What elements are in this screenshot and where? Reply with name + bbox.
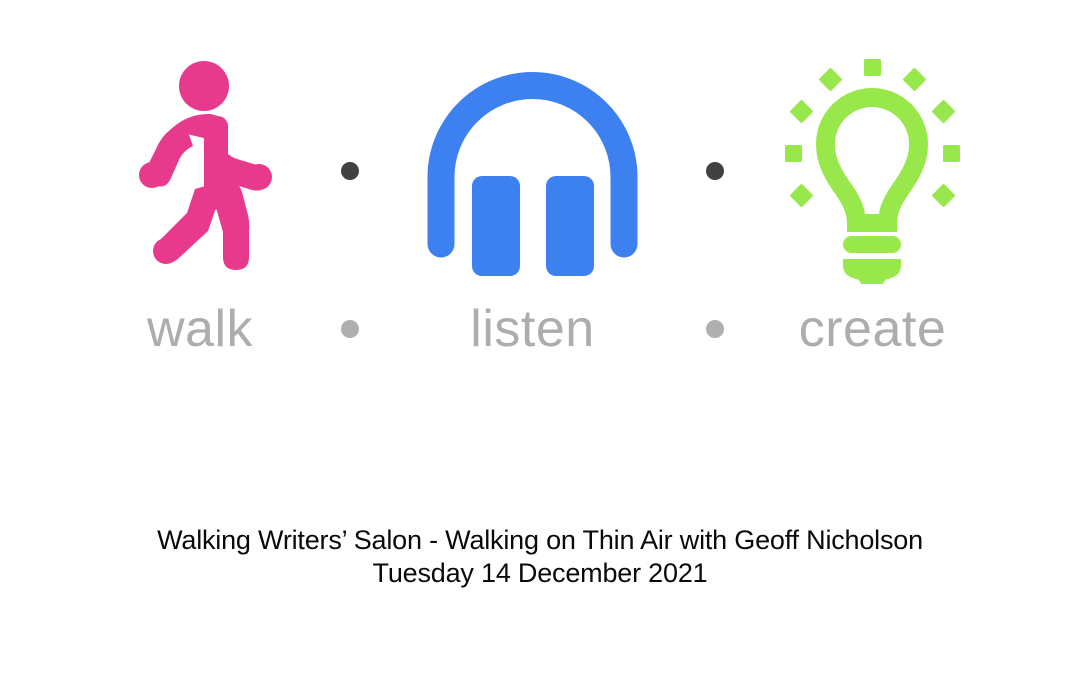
- headphones-icon: [420, 64, 645, 279]
- logo-word-listen: listen: [413, 303, 653, 355]
- logo-word-walk: walk: [113, 303, 288, 355]
- caption-line-title: Walking Writers’ Salon - Walking on Thin…: [0, 524, 1080, 557]
- page-root: walk listen create Walking Writers’ Salo…: [0, 0, 1080, 675]
- walking-person-icon: [125, 61, 275, 281]
- listen-icon-slot[interactable]: [413, 56, 653, 286]
- lightbulb-icon: [785, 59, 960, 284]
- separator-dot: [706, 320, 724, 338]
- create-icon-slot[interactable]: [778, 56, 968, 286]
- separator-dot-icons-2: [653, 56, 778, 286]
- logo-icon-row: [0, 56, 1080, 286]
- separator-dot: [341, 320, 359, 338]
- logo-word-row: walk listen create: [0, 294, 1080, 364]
- separator-dot-words-2: [653, 320, 778, 338]
- separator-dot-words-1: [288, 320, 413, 338]
- separator-dot: [706, 162, 724, 180]
- event-caption: Walking Writers’ Salon - Walking on Thin…: [0, 524, 1080, 590]
- separator-dot-icons-1: [288, 56, 413, 286]
- separator-dot: [341, 162, 359, 180]
- walk-icon-slot[interactable]: [113, 56, 288, 286]
- caption-line-date: Tuesday 14 December 2021: [0, 557, 1080, 590]
- walk-listen-create-logo[interactable]: walk listen create: [0, 56, 1080, 386]
- logo-word-create: create: [778, 303, 968, 355]
